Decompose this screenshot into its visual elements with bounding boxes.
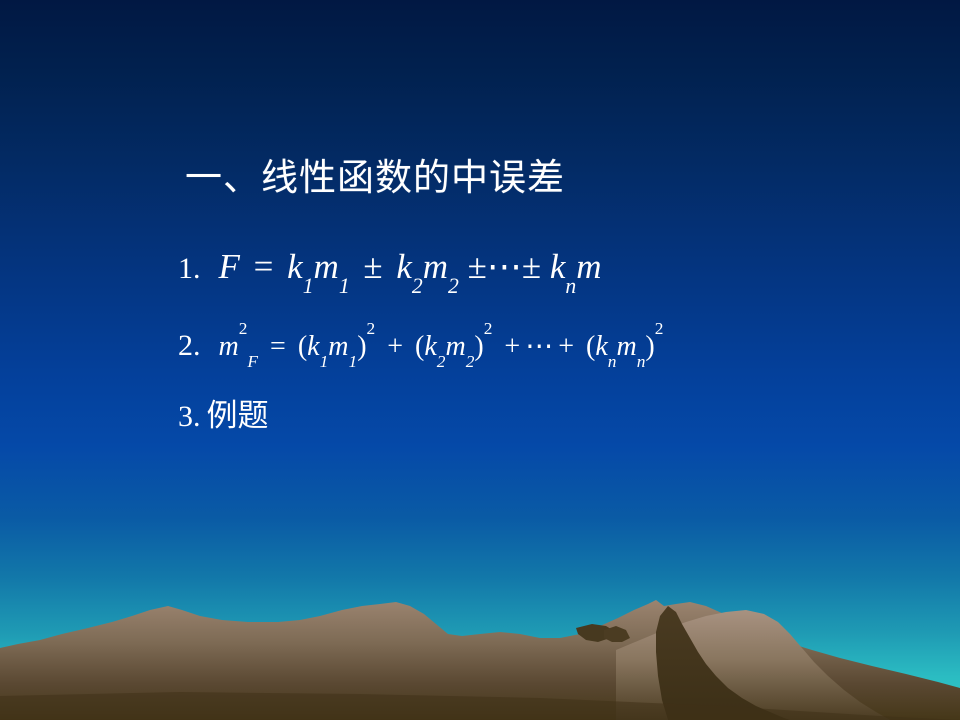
item-number-3: 3. [178,400,201,434]
formula-2-close-1: ) [357,331,366,362]
formula-2-open-1: ( [298,331,307,362]
formula-2-equals: = [265,331,291,362]
formula-1-op-1: ± [358,247,387,286]
formula-1-m2-sub: 2 [448,274,459,298]
formula-2-open-3: ( [586,331,595,362]
formula-2-kn: k [595,331,607,362]
formula-1-m2: m [423,247,448,286]
formula-2-open-2: ( [415,331,424,362]
formula-2-ellipsis: ⋯ [525,331,553,362]
formula-2-close-2: ) [474,331,483,362]
formula-1-lhs: F [219,247,240,286]
formula-2-k2-sub: 2 [437,352,446,371]
formula-2-kn-sub: n [608,352,617,371]
formula-2-m2: m [445,331,465,362]
formula-2-m1-sub: 1 [349,352,358,371]
formula-1-kn: k [550,247,566,286]
formula-2-lhs-sub: F [247,352,258,371]
list-item-formula-2: 2. m2F = (k1m1)2 + (k2m2)2 +⋯+ (knmn)2 [178,328,663,366]
formula-2-mn: m [616,331,636,362]
list-item-formula-1: 1. F = k1m1 ± k2m2 ±⋯± knm [178,248,602,286]
formula-1-m1-sub: 1 [339,274,350,298]
formula-2-lhs-sup: 2 [239,319,248,338]
slide-title: 一、线性函数的中误差 [185,157,565,201]
formula-2-pow-3: 2 [655,319,664,338]
formula-2-plus-2: + [499,331,525,362]
formula-1-op-3: ± [522,247,541,286]
formula-1-k1-sub: 1 [303,274,314,298]
formula-2-k1: k [307,331,319,362]
item-3-label: 例题 [207,398,269,434]
formula-1-equals: = [249,247,279,286]
formula-2-lhs-m: m [219,331,239,362]
formula-2-pow-1: 2 [367,319,376,338]
item-number-1: 1. [178,252,201,286]
formula-2-mn-sub: n [637,352,646,371]
formula-1-mn: m [576,247,601,286]
list-item-3: 3. 例题 [178,398,269,434]
formula-1-ellipsis: ⋯ [487,247,522,286]
formula-1-m1: m [314,247,339,286]
item-number-2: 2. [178,329,201,363]
slide-content: 一、线性函数的中误差 1. F = k1m1 ± k2m2 ±⋯± knm 2.… [0,0,960,720]
formula-1-k2: k [396,247,412,286]
formula-2-k2: k [424,331,436,362]
formula-2-plus-1: + [382,331,408,362]
formula-2-m2-sub: 2 [466,352,475,371]
formula-1-k1: k [287,247,303,286]
formula-1-expression: F = k1m1 ± k2m2 ±⋯± knm [219,248,602,286]
formula-2-expression: m2F = (k1m1)2 + (k2m2)2 +⋯+ (knmn)2 [219,328,664,366]
formula-2-m1: m [328,331,348,362]
formula-1-k2-sub: 2 [412,274,423,298]
formula-2-plus-3: + [553,331,579,362]
formula-2-close-3: ) [645,331,654,362]
formula-2-pow-2: 2 [484,319,493,338]
slide-canvas: 一、线性函数的中误差 1. F = k1m1 ± k2m2 ±⋯± knm 2.… [0,0,960,720]
formula-1-op-2: ± [468,247,487,286]
formula-2-k1-sub: 1 [320,352,329,371]
formula-1-kn-sub: n [565,274,576,298]
